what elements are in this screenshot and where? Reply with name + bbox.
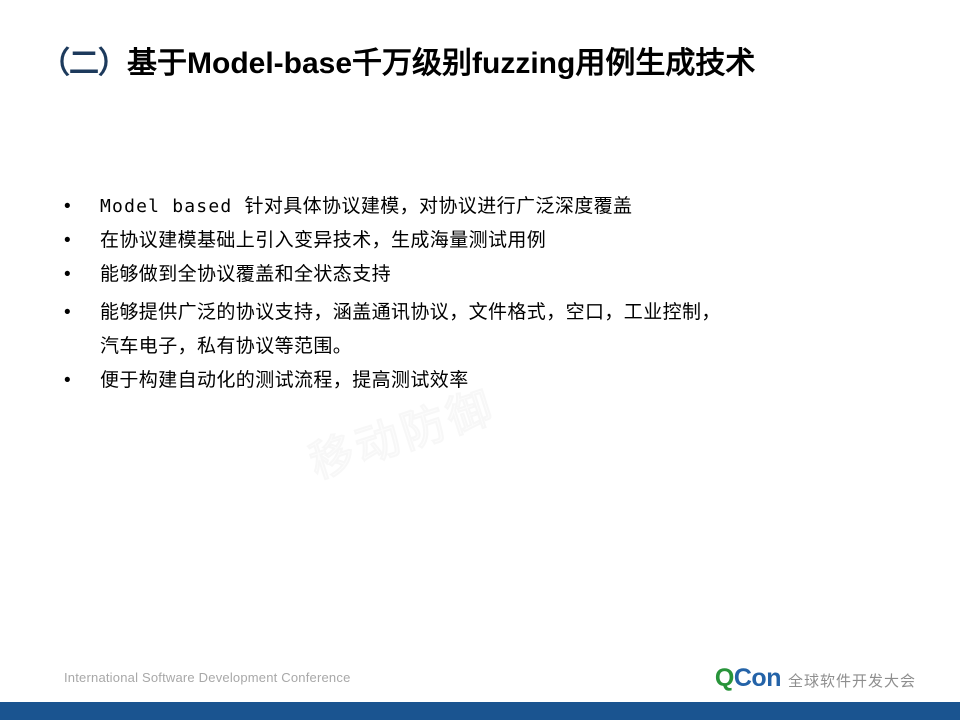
list-item-label: 能够提供广泛的协议支持，涵盖通讯协议，文件格式，空口，工业控制， bbox=[100, 296, 894, 330]
list-item-mono-lead: Model based bbox=[100, 196, 244, 217]
list-item-text: 针对具体协议建模，对协议进行广泛深度覆盖 bbox=[244, 196, 632, 217]
logo-letter-q: Q bbox=[715, 666, 734, 691]
bullet-marker-icon: • bbox=[64, 364, 100, 398]
list-item: • Model based 针对具体协议建模，对协议进行广泛深度覆盖 bbox=[64, 190, 894, 224]
qcon-logo: QCon 全球软件开发大会 bbox=[715, 666, 916, 694]
bullet-marker-icon: • bbox=[64, 258, 100, 292]
title-enumeration: （二） bbox=[40, 47, 127, 80]
list-item-label: Model based 针对具体协议建模，对协议进行广泛深度覆盖 bbox=[100, 190, 894, 224]
title-main-text: 基于Model-base千万级别fuzzing用例生成技术 bbox=[127, 47, 755, 80]
page-title: （二）基于Model-base千万级别fuzzing用例生成技术 bbox=[40, 42, 920, 90]
list-item-label: 便于构建自动化的测试流程，提高测试效率 bbox=[100, 364, 894, 398]
list-item-continuation-text: 汽车电子，私有协议等范围。 bbox=[100, 330, 894, 364]
list-item-continuation: • 汽车电子，私有协议等范围。 bbox=[64, 330, 894, 364]
bullet-marker-icon: • bbox=[64, 224, 100, 258]
list-item: • 能够做到全协议覆盖和全状态支持 bbox=[64, 258, 894, 292]
list-item-label: 能够做到全协议覆盖和全状态支持 bbox=[100, 258, 894, 292]
footer-accent-bar bbox=[0, 702, 960, 720]
bullet-marker-icon: • bbox=[64, 190, 100, 224]
slide-canvas: （二）基于Model-base千万级别fuzzing用例生成技术 • Model… bbox=[0, 0, 960, 720]
list-item-label: 在协议建模基础上引入变异技术，生成海量测试用例 bbox=[100, 224, 894, 258]
list-item: • 在协议建模基础上引入变异技术，生成海量测试用例 bbox=[64, 224, 894, 258]
logo-letters-con: Con bbox=[734, 666, 781, 691]
logo-chinese-name: 全球软件开发大会 bbox=[788, 669, 916, 694]
bullet-list: • Model based 针对具体协议建模，对协议进行广泛深度覆盖 • 在协议… bbox=[64, 190, 894, 398]
footer-tagline: International Software Development Confe… bbox=[64, 670, 351, 685]
list-item: • 能够提供广泛的协议支持，涵盖通讯协议，文件格式，空口，工业控制， bbox=[64, 296, 894, 330]
list-item: • 便于构建自动化的测试流程，提高测试效率 bbox=[64, 364, 894, 398]
bullet-marker-icon: • bbox=[64, 296, 100, 330]
